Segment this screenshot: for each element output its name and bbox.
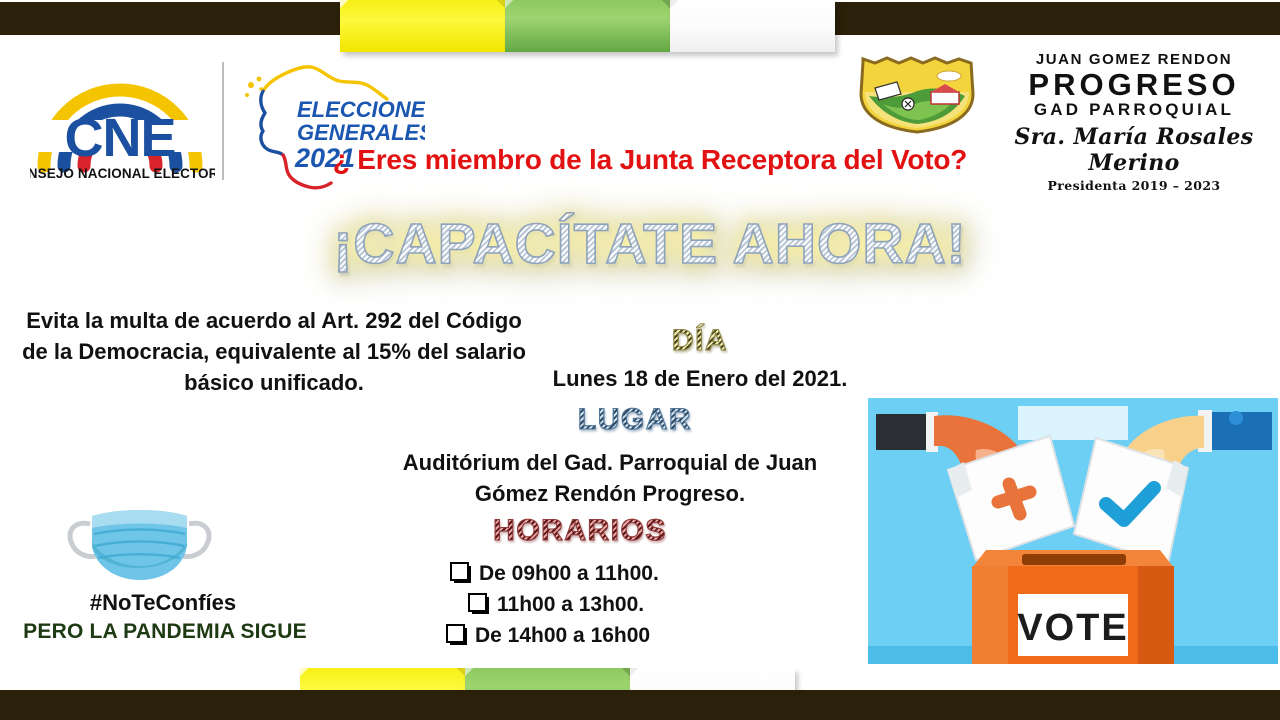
headline-question: ¿ Eres miembro de la Junta Receptora del… (330, 142, 970, 178)
elections-2021-logo: ELECCIONES GENERALES 2021 (235, 55, 425, 200)
fine-notice-text: Evita la multa de acuerdo al Art. 292 de… (14, 305, 534, 399)
gad-line3: GAD PARROQUIAL (995, 101, 1273, 119)
schedule-item-label: De 09h00 a 11h00. (479, 562, 659, 585)
gad-line2: PROGRESO (995, 69, 1273, 101)
headline-call-to-action: ¡CAPACÍTATE AHORA! (300, 215, 1000, 275)
decor-block-white (670, 0, 835, 52)
vote-box-label: VOTE (1017, 607, 1128, 649)
covid-tagline: PERO LA PANDEMIA SIGUE (10, 620, 320, 644)
bottom-decorative-band (0, 690, 1280, 720)
schedule-item-label: 11h00 a 13h00. (497, 593, 644, 616)
schedule-item: De 09h00 a 11h00. (450, 558, 780, 589)
logo-divider (222, 62, 224, 180)
poster-canvas: CNE CONSEJO NACIONAL ELECTORAL ELECCIONE… (0, 0, 1280, 720)
elections-line1: ELECCIONES (297, 97, 425, 122)
cne-logo: CNE CONSEJO NACIONAL ELECTORAL (30, 58, 215, 183)
gad-president-title: Presidenta 2019 – 2023 (995, 178, 1273, 193)
schedule-item: 11h00 a 13h00. (468, 589, 780, 620)
label-lugar: LUGAR (545, 404, 725, 436)
schedule-list: De 09h00 a 11h00. 11h00 a 13h00. De 14h0… (400, 558, 780, 651)
svg-text:CNE: CNE (64, 108, 175, 168)
gad-president-name: Sra. María Rosales Merino (995, 124, 1273, 176)
decor-block-yellow (340, 0, 505, 52)
gad-line1: JUAN GOMEZ RENDON (995, 52, 1273, 68)
value-lugar: Auditórium del Gad. Parroquial de Juan G… (375, 448, 845, 510)
checkbox-icon (446, 624, 465, 643)
cne-subtitle: CONSEJO NACIONAL ELECTORAL (30, 166, 215, 181)
label-dia: DÍA (615, 325, 785, 357)
face-mask-icon (62, 498, 217, 588)
schedule-item-label: De 14h00 a 16h00 (475, 624, 650, 647)
checkbox-icon (450, 562, 469, 581)
checkbox-icon (468, 593, 487, 612)
covid-hashtag: #NoTeConfíes (18, 590, 308, 616)
schedule-item: De 14h00 a 16h00 (446, 620, 780, 651)
label-horarios: HORARIOS (480, 515, 680, 547)
value-dia: Lunes 18 de Enero del 2021. (520, 366, 880, 392)
decor-block-green (505, 0, 670, 52)
gad-shield-icon (853, 54, 983, 134)
ballot-box-illustration: VOTE (868, 398, 1278, 664)
